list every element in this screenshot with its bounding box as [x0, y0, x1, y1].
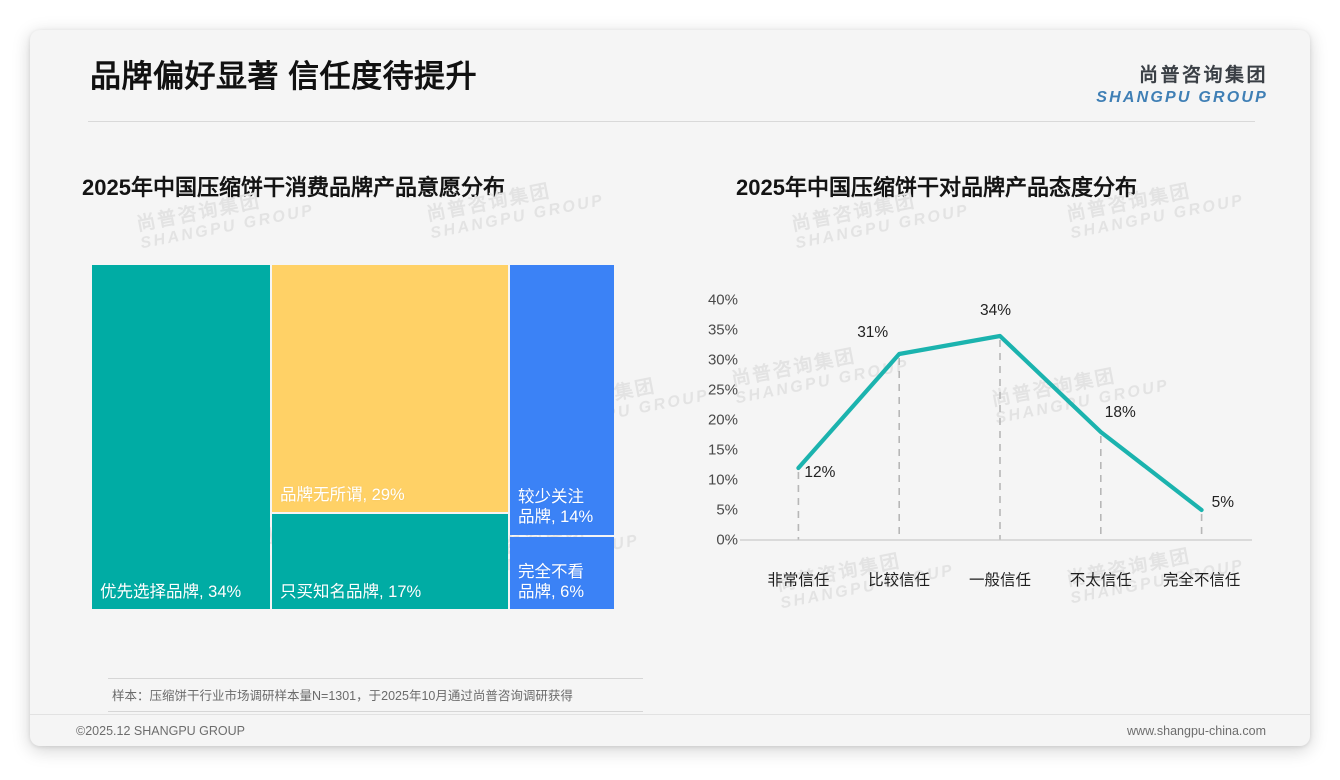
treemap-tile-less-attention[interactable]: 较少关注 品牌, 14%	[510, 265, 614, 535]
line-chart: 0%5%10%15%20%25%30%35%40% 非常信任比较信任一般信任不太…	[670, 258, 1270, 618]
treemap-tile-priority-brand[interactable]: 优先选择品牌, 34%	[92, 265, 270, 609]
treemap-tile-brand-indifferent[interactable]: 品牌无所谓, 29%	[272, 265, 508, 512]
treemap-tile-famous-brand-only[interactable]: 只买知名品牌, 17%	[272, 514, 508, 609]
treemap-tile-no-attention[interactable]: 完全不看 品牌, 6%	[510, 537, 614, 609]
footnote-text: 样本：压缩饼干行业市场调研样本量N=1301，于2025年10月通过尚普咨询调研…	[112, 685, 573, 704]
copyright-text: ©2025.12 SHANGPU GROUP	[76, 724, 245, 738]
data-point-label: 31%	[857, 324, 888, 342]
data-point-label: 18%	[1105, 404, 1136, 422]
logo-chinese-text: 尚普咨询集团	[1096, 66, 1268, 85]
treemap-tile-label: 只买知名品牌, 17%	[280, 582, 421, 603]
data-point-label: 5%	[1212, 494, 1234, 512]
page-title: 品牌偏好显著 信任度待提升	[90, 51, 477, 96]
right-chart-title: 2025年中国压缩饼干对品牌产品态度分布	[736, 170, 1137, 202]
data-point-label: 12%	[804, 464, 835, 482]
slide-canvas: 品牌偏好显著 信任度待提升 尚普咨询集团 SHANGPU GROUP 2025年…	[30, 30, 1310, 746]
logo-english-text: SHANGPU GROUP	[1096, 90, 1268, 106]
slide-footer: ©2025.12 SHANGPU GROUP www.shangpu-china…	[30, 714, 1310, 746]
treemap-tile-label: 完全不看 品牌, 6%	[518, 562, 584, 603]
header-divider	[88, 121, 1255, 122]
footnote-top-divider	[108, 678, 643, 679]
slide-header: 品牌偏好显著 信任度待提升 尚普咨询集团 SHANGPU GROUP	[30, 30, 1310, 121]
treemap-tile-label: 较少关注 品牌, 14%	[518, 487, 593, 528]
data-point-label: 34%	[980, 302, 1011, 320]
treemap-tile-label: 优先选择品牌, 34%	[100, 582, 241, 603]
brand-logo: 尚普咨询集团 SHANGPU GROUP	[1096, 66, 1268, 106]
treemap-chart: 优先选择品牌, 34% 品牌无所谓, 29% 只买知名品牌, 17% 较少关注 …	[92, 265, 639, 609]
website-link[interactable]: www.shangpu-china.com	[1127, 724, 1266, 738]
treemap-tile-label: 品牌无所谓, 29%	[280, 485, 405, 506]
left-chart-title: 2025年中国压缩饼干消费品牌产品意愿分布	[82, 170, 505, 202]
footnote-bottom-divider	[108, 711, 643, 712]
line-chart-plot	[670, 258, 1270, 618]
